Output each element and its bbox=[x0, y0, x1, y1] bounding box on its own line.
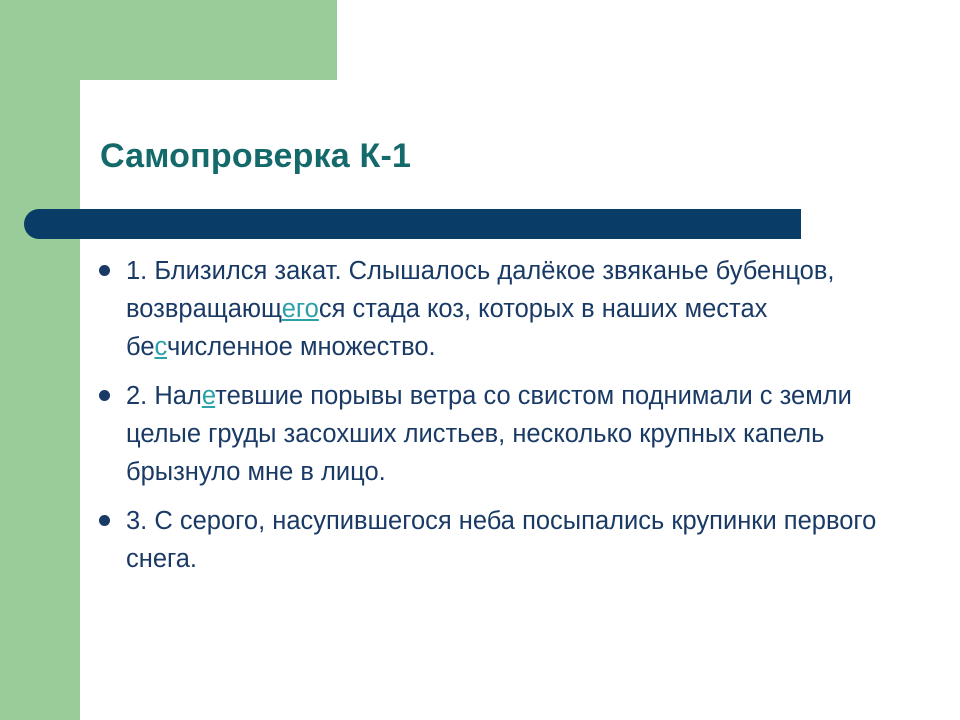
bullet-dot-icon bbox=[99, 515, 110, 526]
highlighted-morpheme: его bbox=[282, 295, 319, 323]
bullet-dot-icon bbox=[99, 390, 110, 401]
page-title: Самопроверка К-1 bbox=[100, 138, 880, 175]
text-run: численное множество. bbox=[167, 333, 436, 361]
text-run: 2. Нал bbox=[126, 382, 202, 410]
list-item-text: 2. Налетевшие порывы ветра со свистом по… bbox=[126, 382, 852, 486]
highlighted-morpheme: е bbox=[202, 382, 215, 410]
text-run: тевшие порывы ветра со свистом поднимали… bbox=[126, 382, 852, 486]
list-item-text: 1. Близился закат. Слышалось далёкое звя… bbox=[126, 257, 834, 361]
title-divider-bar bbox=[24, 209, 801, 239]
list-item: 3. С серого, насупившегося неба посыпали… bbox=[96, 502, 906, 578]
list-item: 2. Налетевшие порывы ветра со свистом по… bbox=[96, 377, 906, 491]
bullet-list: 1. Близился закат. Слышалось далёкое звя… bbox=[96, 252, 906, 578]
list-item-text: 3. С серого, насупившегося неба посыпали… bbox=[126, 507, 876, 573]
bullet-dot-icon bbox=[99, 265, 110, 276]
text-run: 3. С серого, насупившегося неба посыпали… bbox=[126, 507, 876, 573]
green-accent-top-block bbox=[0, 0, 337, 80]
list-item: 1. Близился закат. Слышалось далёкое звя… bbox=[96, 252, 906, 366]
green-accent-left-strip bbox=[0, 0, 80, 720]
presentation-slide: Самопроверка К-1 1. Близился закат. Слыш… bbox=[0, 0, 960, 720]
highlighted-morpheme: с bbox=[155, 333, 167, 361]
